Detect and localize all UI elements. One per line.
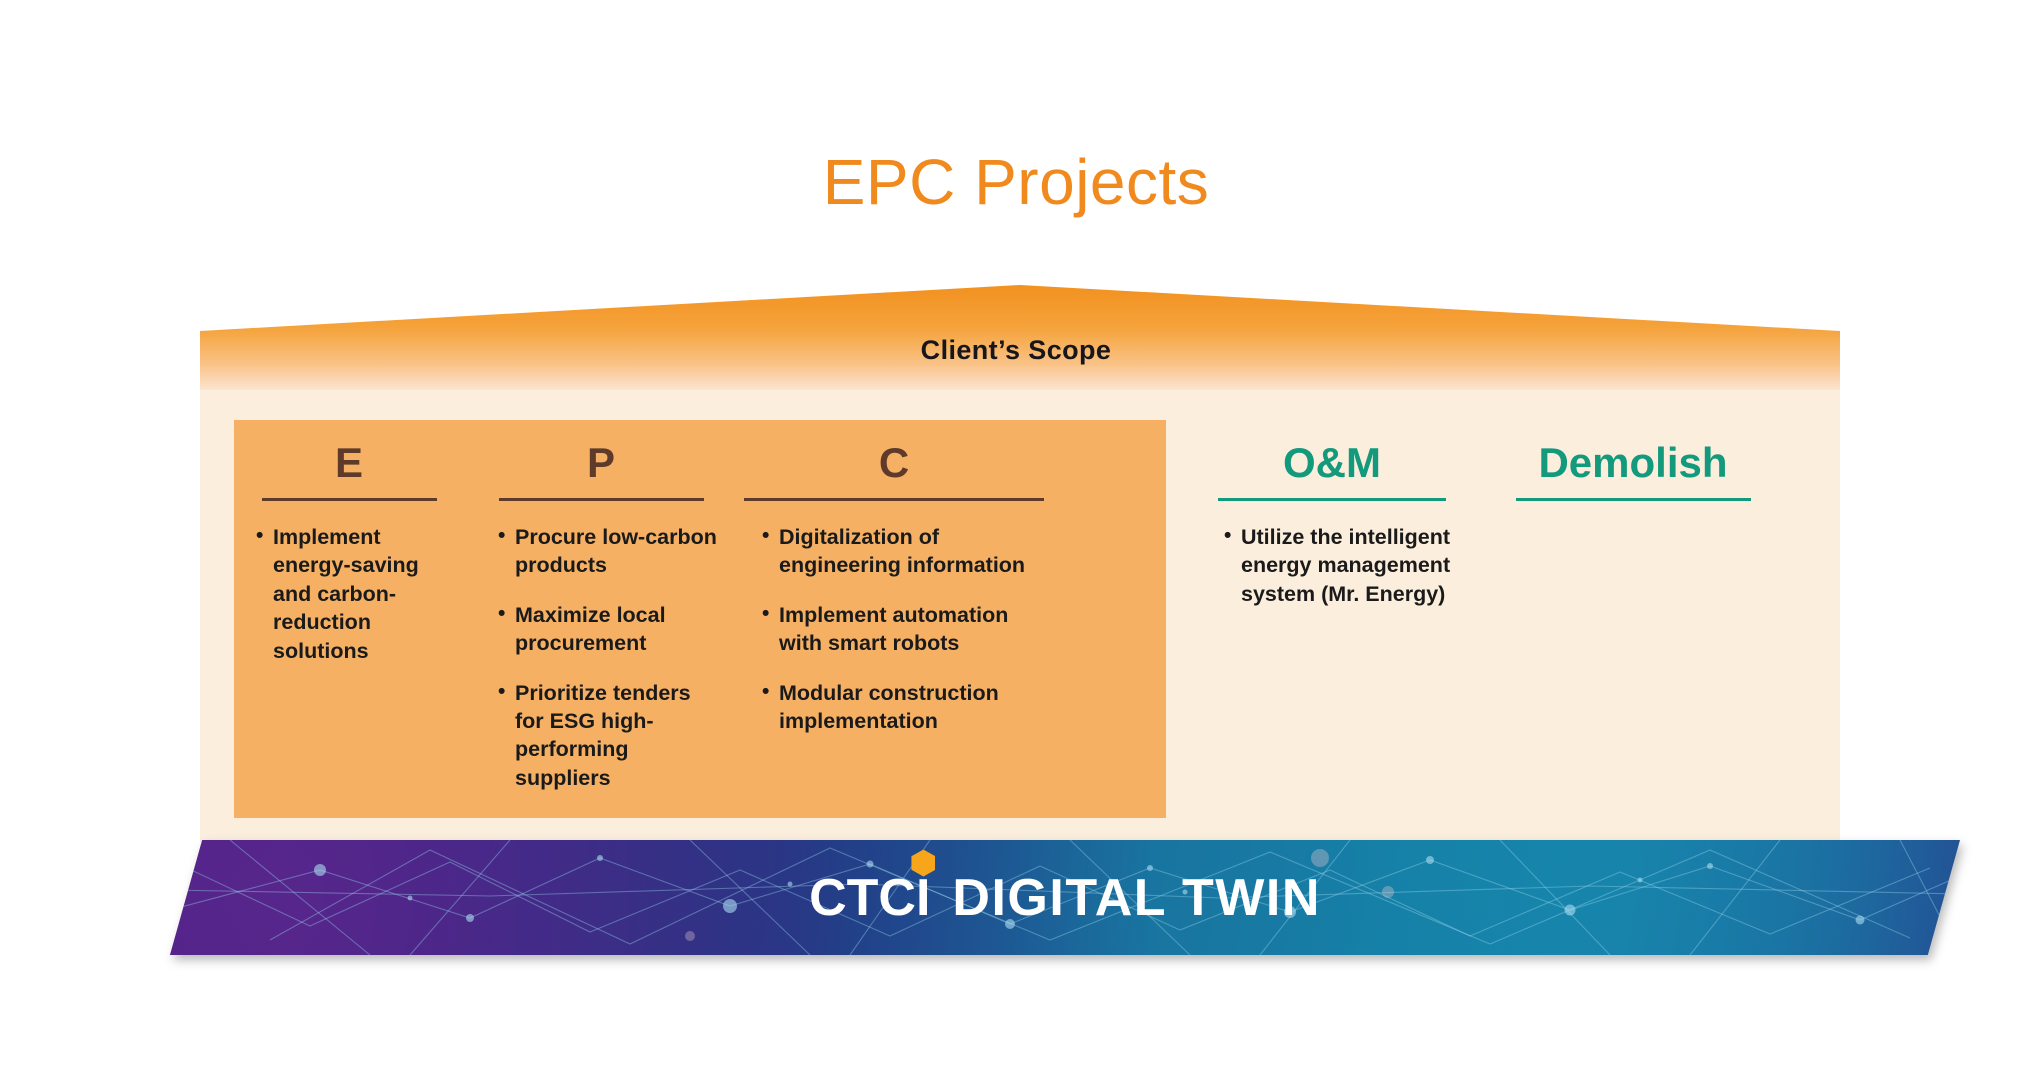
bottom-banner: CTCI DIGITAL TWIN <box>170 840 1960 955</box>
page-title: EPC Projects <box>0 150 2032 214</box>
column-demolish-rule <box>1516 498 1751 501</box>
digital-twin-label: DIGITAL TWIN <box>952 872 1320 924</box>
column-demolish[interactable]: Demolish <box>1508 420 1758 501</box>
banner-background: CTCI DIGITAL TWIN <box>170 840 1960 955</box>
column-om-bullets: Utilize the intelligent energy managemen… <box>1224 523 1458 608</box>
column-demolish-heading: Demolish <box>1508 420 1758 484</box>
column-om-rule <box>1218 498 1446 501</box>
column-om[interactable]: O&M Utilize the intelligent energy manag… <box>1206 420 1458 629</box>
banner-text: CTCI DIGITAL TWIN <box>170 840 1960 955</box>
list-item: Utilize the intelligent energy managemen… <box>1224 523 1458 608</box>
slide-canvas: EPC Projects Client’s Scope E Implement … <box>0 0 2032 1080</box>
column-om-heading: O&M <box>1206 420 1458 484</box>
clients-scope-label: Client’s Scope <box>0 335 2032 366</box>
post-epc-columns: O&M Utilize the intelligent energy manag… <box>0 420 2032 818</box>
ctci-wordmark: CTCI <box>809 869 930 927</box>
ctci-logo: CTCI <box>809 872 930 924</box>
